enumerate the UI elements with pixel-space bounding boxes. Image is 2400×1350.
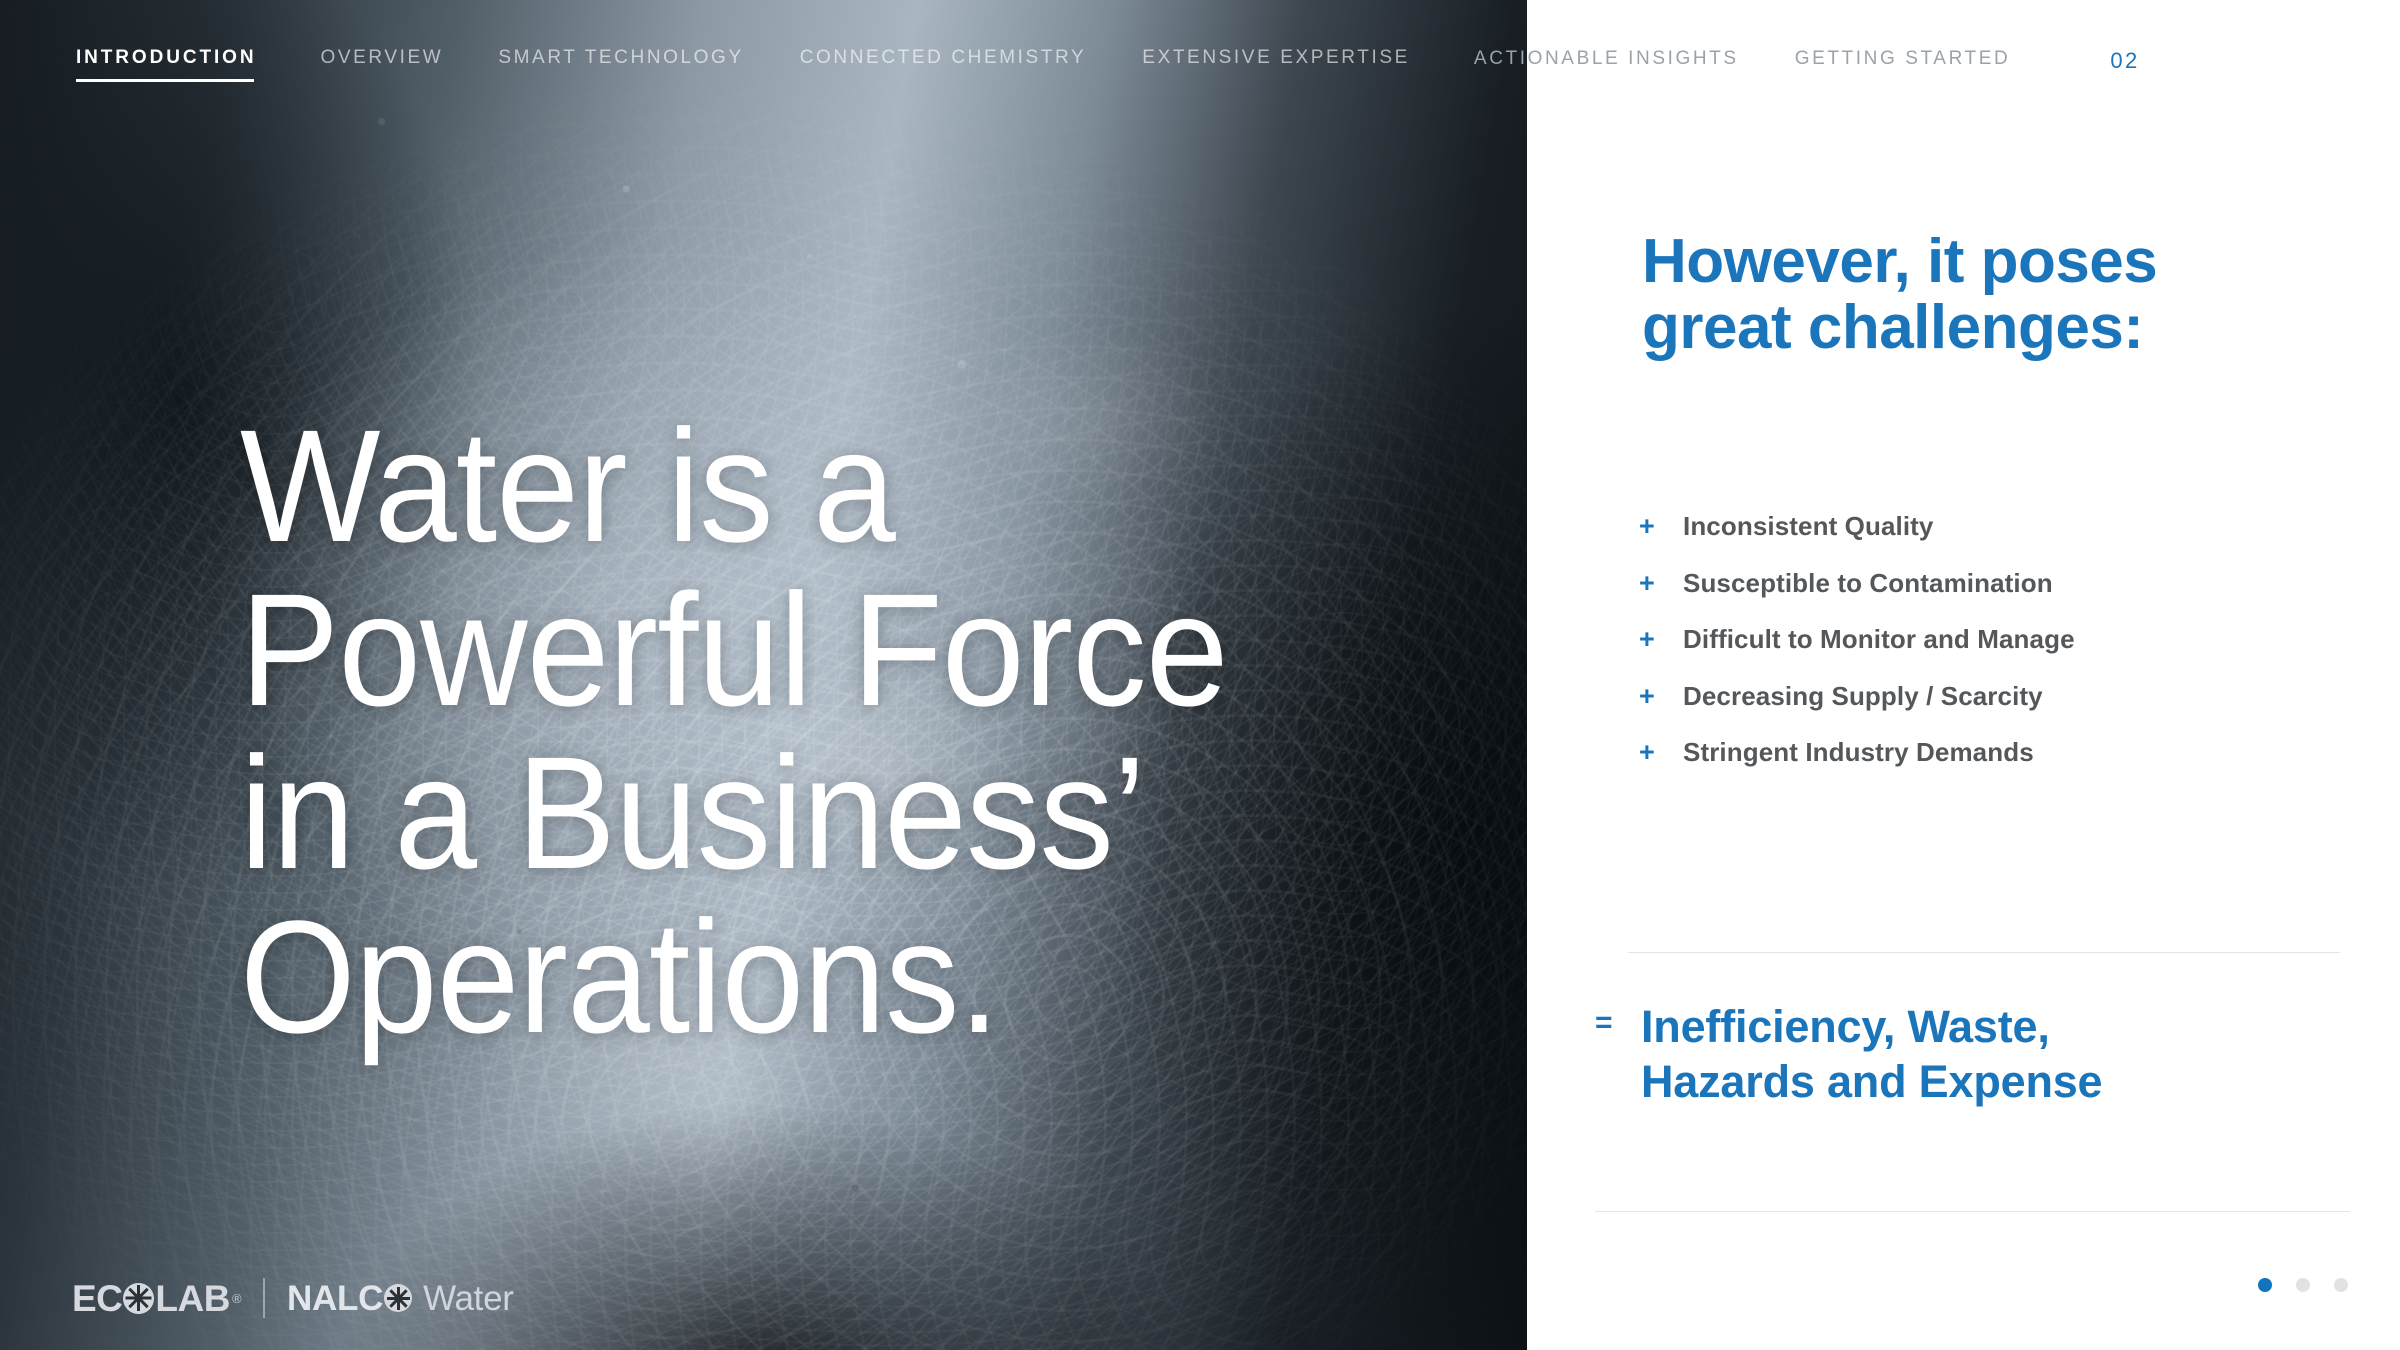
nav-item-introduction[interactable]: INTRODUCTION: [76, 47, 256, 82]
logo-divider: [263, 1278, 265, 1318]
plus-icon: +: [1639, 626, 1683, 653]
divider-below-conclusion: [1595, 1211, 2350, 1212]
plus-icon: +: [1639, 739, 1683, 766]
hero-headline-line: in a Business’: [240, 752, 1337, 874]
conclusion-line: Inefficiency, Waste,: [1641, 1000, 2102, 1055]
slide: Water is a Powerful Force in a Business’…: [0, 0, 2400, 1350]
conclusion-block: = Inefficiency, Waste, Hazards and Expen…: [1595, 1000, 2385, 1110]
conclusion-text: Inefficiency, Waste, Hazards and Expense: [1641, 1000, 2102, 1110]
brand-logo-lockup: EC LAB ® NALC Water: [72, 1278, 514, 1318]
nav-item-actionable-insights[interactable]: ACTIONABLE INSIGHTS: [1474, 48, 1739, 83]
list-item: + Difficult to Monitor and Manage: [1639, 625, 2359, 654]
nalco-water-logo: NALC Water: [287, 1281, 514, 1316]
ecolab-logo-text-part1: EC: [72, 1280, 122, 1317]
list-item-label: Inconsistent Quality: [1683, 512, 1934, 541]
nav-item-connected-chemistry[interactable]: CONNECTED CHEMISTRY: [800, 47, 1087, 82]
content-heading-line: However, it poses: [1642, 229, 2342, 295]
nav-item-smart-technology[interactable]: SMART TECHNOLOGY: [498, 47, 743, 82]
hero-headline-line: Powerful Force: [240, 589, 1337, 711]
content-heading-line: great challenges:: [1642, 295, 2342, 361]
nav-item-overview[interactable]: OVERVIEW: [320, 47, 443, 82]
divider-above-conclusion: [1628, 952, 2340, 953]
conclusion-line: Hazards and Expense: [1641, 1055, 2102, 1110]
nav-right-group: ACTIONABLE INSIGHTS GETTING STARTED 02: [1474, 0, 2140, 87]
list-item-label: Difficult to Monitor and Manage: [1683, 625, 2075, 654]
hero-headline-line: Operations.: [240, 916, 1337, 1038]
nalco-logo-text: NALC: [287, 1281, 383, 1316]
ecolab-logo: EC LAB ®: [72, 1280, 241, 1317]
nalco-star-icon: [384, 1284, 412, 1312]
list-item: + Decreasing Supply / Scarcity: [1639, 682, 2359, 711]
ecolab-star-icon: [123, 1283, 154, 1314]
list-item: + Stringent Industry Demands: [1639, 738, 2359, 767]
plus-icon: +: [1639, 683, 1683, 710]
equals-icon: =: [1595, 1000, 1641, 1047]
plus-icon: +: [1639, 513, 1683, 540]
list-item: + Inconsistent Quality: [1639, 512, 2359, 541]
page-number: 02: [2110, 48, 2139, 87]
content-heading: However, it poses great challenges:: [1642, 229, 2342, 360]
nav-left-group: INTRODUCTION OVERVIEW SMART TECHNOLOGY C…: [0, 0, 1410, 82]
ecolab-logo-text-part2: LAB: [155, 1280, 230, 1317]
list-item-label: Susceptible to Contamination: [1683, 569, 2053, 598]
pagination-dot-1[interactable]: [2258, 1278, 2272, 1292]
nav-item-extensive-expertise[interactable]: EXTENSIVE EXPERTISE: [1142, 47, 1410, 82]
list-item-label: Stringent Industry Demands: [1683, 738, 2034, 767]
hero-headline: Water is a Powerful Force in a Business’…: [240, 425, 1337, 1037]
pagination-dot-3[interactable]: [2334, 1278, 2348, 1292]
hero-headline-line: Water is a: [240, 425, 1337, 547]
list-item: + Susceptible to Contamination: [1639, 569, 2359, 598]
challenges-list: + Inconsistent Quality + Susceptible to …: [1639, 512, 2359, 767]
nav-item-getting-started[interactable]: GETTING STARTED: [1795, 48, 2011, 83]
pagination-dot-2[interactable]: [2296, 1278, 2310, 1292]
plus-icon: +: [1639, 570, 1683, 597]
pagination-dots[interactable]: [2258, 1278, 2348, 1292]
nalco-water-suffix: Water: [423, 1281, 514, 1316]
list-item-label: Decreasing Supply / Scarcity: [1683, 682, 2043, 711]
content-panel: However, it poses great challenges: + In…: [1527, 0, 2400, 1350]
registered-trademark-icon: ®: [232, 1292, 241, 1305]
